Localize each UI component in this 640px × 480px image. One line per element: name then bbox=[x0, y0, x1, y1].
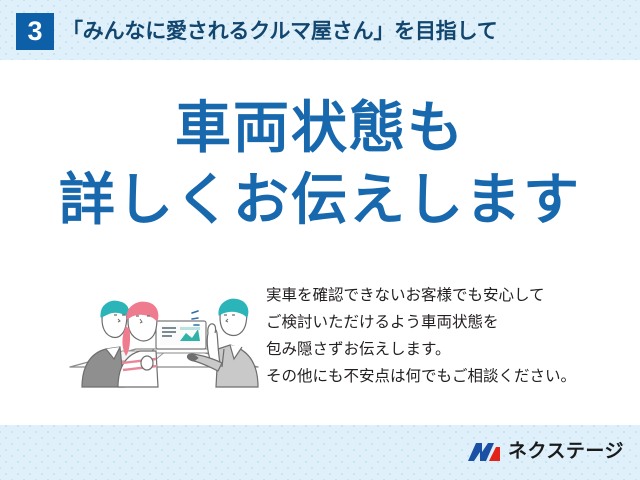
nexstage-logo: ネクステージ bbox=[467, 438, 624, 466]
customer-consultation-illustration bbox=[62, 275, 262, 390]
header-title: 「みんなに愛されるクルマ屋さん」を目指して bbox=[62, 14, 498, 50]
slide-canvas: 3 「みんなに愛されるクルマ屋さん」を目指して 車両状態も 詳しくお伝えします bbox=[0, 0, 640, 480]
body-line-1: 実車を確認できないお客様でも安心して bbox=[266, 282, 612, 309]
headline-line-1: 車両状態も bbox=[0, 96, 640, 160]
slide-header: 3 「みんなに愛されるクルマ屋さん」を目指して bbox=[0, 0, 640, 60]
body-line-4: その他にも不安点は何でもご相談ください。 bbox=[266, 363, 612, 390]
headline-line-2: 詳しくお伝えします bbox=[0, 168, 640, 232]
nexstage-n-mark-icon bbox=[467, 440, 501, 464]
content-panel: 車両状態も 詳しくお伝えします bbox=[0, 60, 640, 425]
body-copy: 実車を確認できないお客様でも安心して ご検討いただけるよう車両状態を 包み隠さず… bbox=[266, 282, 612, 390]
nexstage-logo-text: ネクステージ bbox=[508, 440, 624, 464]
slide-footer: ネクステージ bbox=[0, 425, 640, 480]
body-line-3: 包み隠さずお伝えします。 bbox=[266, 336, 612, 363]
body-line-2: ご検討いただけるよう車両状態を bbox=[266, 309, 612, 336]
section-number-badge: 3 bbox=[16, 13, 54, 50]
